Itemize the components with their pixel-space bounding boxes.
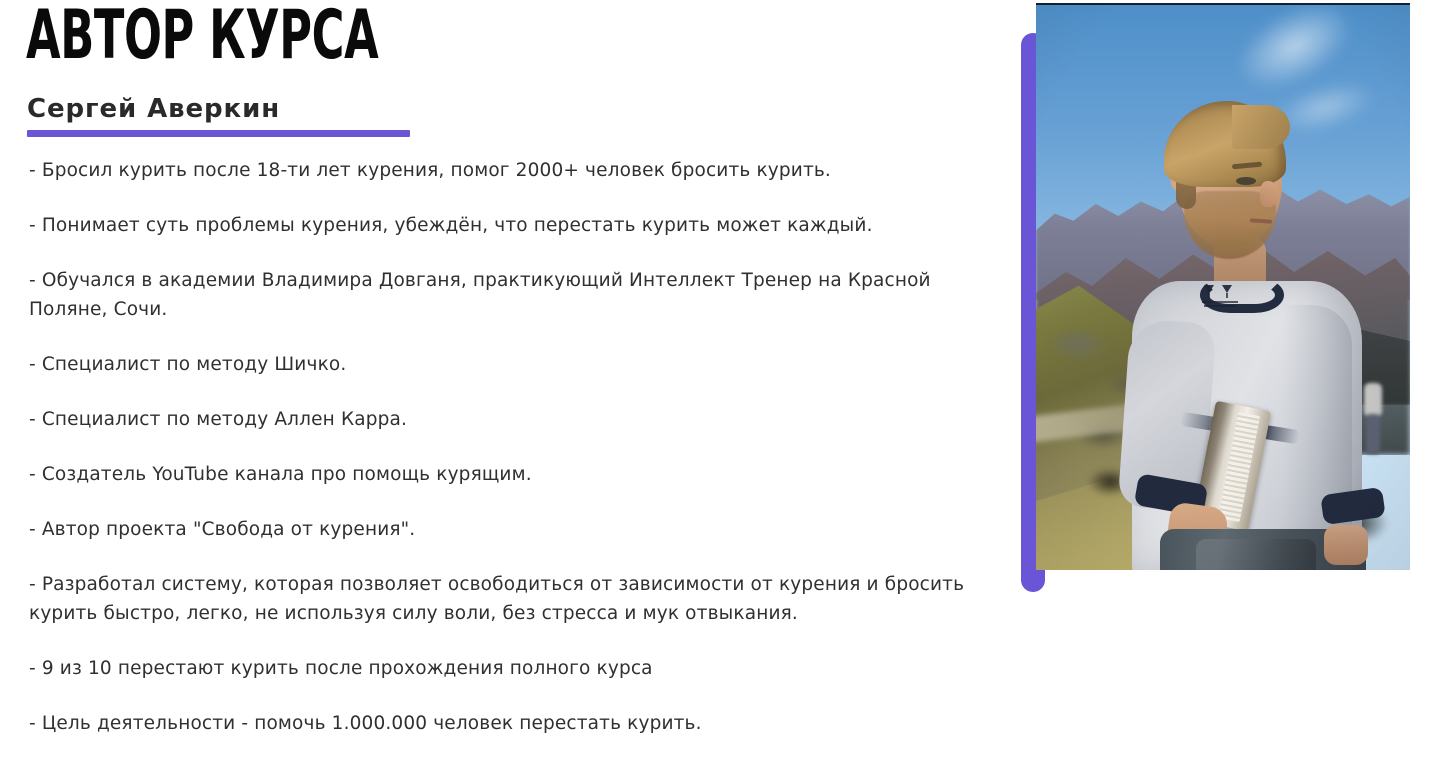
author-content-column: АВТОР КУРСА Сергей Аверкин - Бросил кури… xyxy=(0,0,1000,758)
list-item: - Разработал систему, которая позволяет … xyxy=(29,570,979,628)
list-item: - Специалист по методу Аллен Карра. xyxy=(29,405,979,434)
author-bio-list: - Бросил курить после 18-ти лет курения,… xyxy=(29,156,979,738)
hair-sweep xyxy=(1232,105,1290,149)
list-item: - Специалист по методу Шичко. xyxy=(29,350,979,379)
author-name-heading: Сергей Аверкин xyxy=(27,92,280,126)
author-photo xyxy=(1036,3,1410,570)
author-photo-block xyxy=(1021,0,1446,758)
list-item: - Бросил курить после 18-ти лет курения,… xyxy=(29,156,979,185)
list-item: - Цель деятельности - помочь 1.000.000 ч… xyxy=(29,709,979,738)
russia-discovery-logo-icon xyxy=(1198,281,1242,309)
eye xyxy=(1236,177,1256,185)
list-item: - 9 из 10 перестают курить после прохожд… xyxy=(29,654,979,683)
author-portrait-figure xyxy=(1036,5,1410,570)
list-item: - Обучался в академии Владимира Довганя,… xyxy=(29,266,979,324)
trouser-fold xyxy=(1196,539,1316,570)
hand-in-pocket xyxy=(1324,525,1368,565)
author-name-underline xyxy=(27,130,410,137)
list-item: - Автор проекта "Свобода от курения". xyxy=(29,515,979,544)
list-item: - Создатель YouTube канала про помощь ку… xyxy=(29,460,979,489)
page-title: АВТОР КУРСА xyxy=(26,0,378,74)
nose xyxy=(1260,181,1278,207)
list-item: - Понимает суть проблемы курения, убеждё… xyxy=(29,211,979,240)
